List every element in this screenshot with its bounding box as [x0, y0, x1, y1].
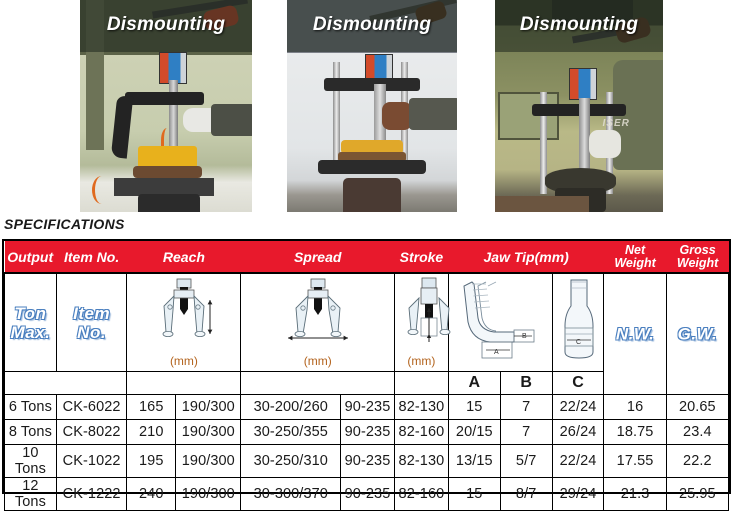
table-row: 6 Tons CK-6022 165 190/300 30-200/260 90… [5, 395, 729, 420]
bottom-gear [138, 194, 200, 212]
cell-spread-1: 30-200/260 [241, 395, 341, 420]
puller-arm [111, 95, 133, 158]
header-gross-weight-line2: Weight [667, 257, 729, 270]
table-row: 8 Tons CK-8022 210 190/300 30-250/355 90… [5, 420, 729, 445]
photo-dismounting-2: Dismounting [287, 0, 457, 212]
cell-spread-2: 90-235 [341, 478, 395, 511]
puller-spread-icon [280, 276, 356, 352]
subheader-gw: G.W. [667, 324, 728, 343]
cell-output: 6 Tons [5, 395, 57, 420]
cell-reach-1: 165 [127, 395, 176, 420]
cell-jaw-b: 5/7 [500, 445, 552, 478]
worker-sleeve [211, 104, 252, 136]
cell-output: 10 Tons [5, 445, 57, 478]
subheader-nw: N.W. [604, 324, 665, 343]
cell-reach-2: 190/300 [176, 445, 241, 478]
svg-text:B: B [522, 333, 527, 340]
header-net-weight: Net Weight [604, 242, 666, 274]
unit-row-empty-output [5, 372, 127, 395]
puller-shaft [579, 98, 590, 172]
cell-gross-weight: 20.65 [666, 395, 728, 420]
spread-diagram [241, 276, 393, 348]
reach-diagram [127, 276, 240, 348]
header-stroke: Stroke [394, 242, 448, 274]
orange-coil [92, 176, 111, 204]
stroke-diagram [395, 276, 448, 348]
subheader-stroke: (mm) [394, 273, 448, 372]
cell-reach-2: 190/300 [176, 478, 241, 511]
header-item-no: Item No. [56, 242, 127, 274]
worker-hand [382, 102, 412, 130]
puller-yoke [125, 92, 204, 105]
product-photo-strip: Dismounting Dismounting [0, 0, 735, 212]
unit-row-reach [127, 372, 241, 395]
cell-item-no: CK-6022 [56, 395, 127, 420]
puller-clamp [318, 160, 427, 174]
subheader-ton: Ton [5, 303, 56, 322]
cell-net-weight: 17.55 [604, 445, 666, 478]
hydraulic-ram [569, 68, 597, 100]
cell-reach-2: 190/300 [176, 395, 241, 420]
subheader-jaw-c-label: C [552, 372, 604, 395]
cell-spread-1: 30-250/355 [241, 420, 341, 445]
jaw-c-diagram: C [553, 278, 604, 368]
subheader-gross-weight: G.W. [666, 273, 728, 395]
subheader-jaw-c: C [552, 273, 604, 372]
subheader-item-no: Item No. [56, 273, 127, 372]
stroke-unit: (mm) [395, 354, 448, 368]
cell-stroke: 82-160 [394, 478, 448, 511]
puller-yoke [324, 78, 419, 91]
cell-jaw-b: 8/7 [500, 478, 552, 511]
table-row: 10 Tons CK-1022 195 190/300 30-250/310 9… [5, 445, 729, 478]
header-net-weight-line2: Weight [604, 257, 665, 270]
cell-jaw-c: 26/24 [552, 420, 604, 445]
cell-gross-weight: 22.2 [666, 445, 728, 478]
cell-reach-2: 190/300 [176, 420, 241, 445]
cell-spread-2: 90-235 [341, 445, 395, 478]
reach-unit: (mm) [127, 354, 240, 368]
cell-jaw-a: 15 [448, 395, 500, 420]
unit-row-spread [241, 372, 394, 395]
spread-unit: (mm) [241, 354, 393, 368]
cell-jaw-c: 22/24 [552, 445, 604, 478]
cell-jaw-b: 7 [500, 395, 552, 420]
yellow-gear-part [138, 146, 196, 168]
table-row: 12 Tons CK-1222 240 190/300 30-300/370 9… [5, 478, 729, 511]
cell-stroke: 82-130 [394, 445, 448, 478]
photo-caption-2: Dismounting [287, 14, 457, 36]
cell-gross-weight: 25.95 [666, 478, 728, 511]
workbench [495, 196, 589, 212]
jaw-tip-c-icon: C [553, 278, 605, 364]
cell-reach-1: 210 [127, 420, 176, 445]
cell-spread-2: 90-235 [341, 420, 395, 445]
header-gross-weight: Gross Weight [666, 242, 728, 274]
cell-jaw-a: 15 [448, 478, 500, 511]
jaw-tip-ab-icon: B A [452, 278, 548, 364]
spec-table-element: Output Item No. Reach Spread Stroke Jaw … [4, 241, 729, 511]
header-jaw-tip: Jaw Tip(mm) [448, 242, 604, 274]
jaw-ab-diagram: B A [449, 278, 552, 368]
cell-jaw-c: 22/24 [552, 395, 604, 420]
subheader-jaw-b: B [500, 372, 552, 395]
specifications-title: SPECIFICATIONS [4, 216, 125, 232]
subheader-jaw-a: A [448, 372, 500, 395]
cell-item-no: CK-8022 [56, 420, 127, 445]
subheader-no: No. [57, 323, 127, 342]
bottom-gear [343, 178, 401, 212]
worker-sleeve [409, 98, 457, 130]
specifications-table: Output Item No. Reach Spread Stroke Jaw … [2, 239, 731, 494]
brand-logo-text: ISER [603, 118, 630, 129]
cell-net-weight: 16 [604, 395, 666, 420]
gloved-hand [589, 130, 621, 158]
subheader-max: Max. [5, 323, 56, 342]
cell-output: 12 Tons [5, 478, 57, 511]
cell-reach-1: 195 [127, 445, 176, 478]
cell-item-no: CK-1022 [56, 445, 127, 478]
table-subheader-row: Ton Max. Item No. [5, 273, 729, 372]
photo-caption-1: Dismounting [80, 14, 252, 36]
cell-net-weight: 18.75 [604, 420, 666, 445]
subheader-net-weight: N.W. [604, 273, 666, 395]
puller-rod-left [333, 62, 340, 162]
cell-jaw-a: 20/15 [448, 420, 500, 445]
photo-dismounting-3: ISER Dismounting [495, 0, 663, 212]
subheader-output: Ton Max. [5, 273, 57, 372]
cell-spread-1: 30-300/370 [241, 478, 341, 511]
photo-dismounting-1: Dismounting [80, 0, 252, 212]
cell-stroke: 82-160 [394, 420, 448, 445]
cell-spread-1: 30-250/310 [241, 445, 341, 478]
cell-jaw-c: 29/24 [552, 478, 604, 511]
subheader-jaw-ab: B A [448, 273, 552, 372]
cell-stroke: 82-130 [394, 395, 448, 420]
cell-gross-weight: 23.4 [666, 420, 728, 445]
cell-item-no: CK-1222 [56, 478, 127, 511]
cell-net-weight: 21.3 [604, 478, 666, 511]
header-output: Output [5, 242, 57, 274]
cell-spread-2: 90-235 [341, 395, 395, 420]
bearing-race [133, 166, 202, 178]
cell-jaw-a: 13/15 [448, 445, 500, 478]
subheader-spread: (mm) [241, 273, 394, 372]
cell-output: 8 Tons [5, 420, 57, 445]
header-reach: Reach [127, 242, 241, 274]
photo-caption-3: Dismounting [495, 14, 663, 36]
header-spread: Spread [241, 242, 394, 274]
machine-window [498, 92, 559, 140]
subheader-item: Item [57, 303, 127, 322]
cell-jaw-b: 7 [500, 420, 552, 445]
unit-row-stroke [394, 372, 448, 395]
cell-reach-1: 240 [127, 478, 176, 511]
puller-reach-icon [146, 276, 222, 352]
subheader-reach: (mm) [127, 273, 241, 372]
